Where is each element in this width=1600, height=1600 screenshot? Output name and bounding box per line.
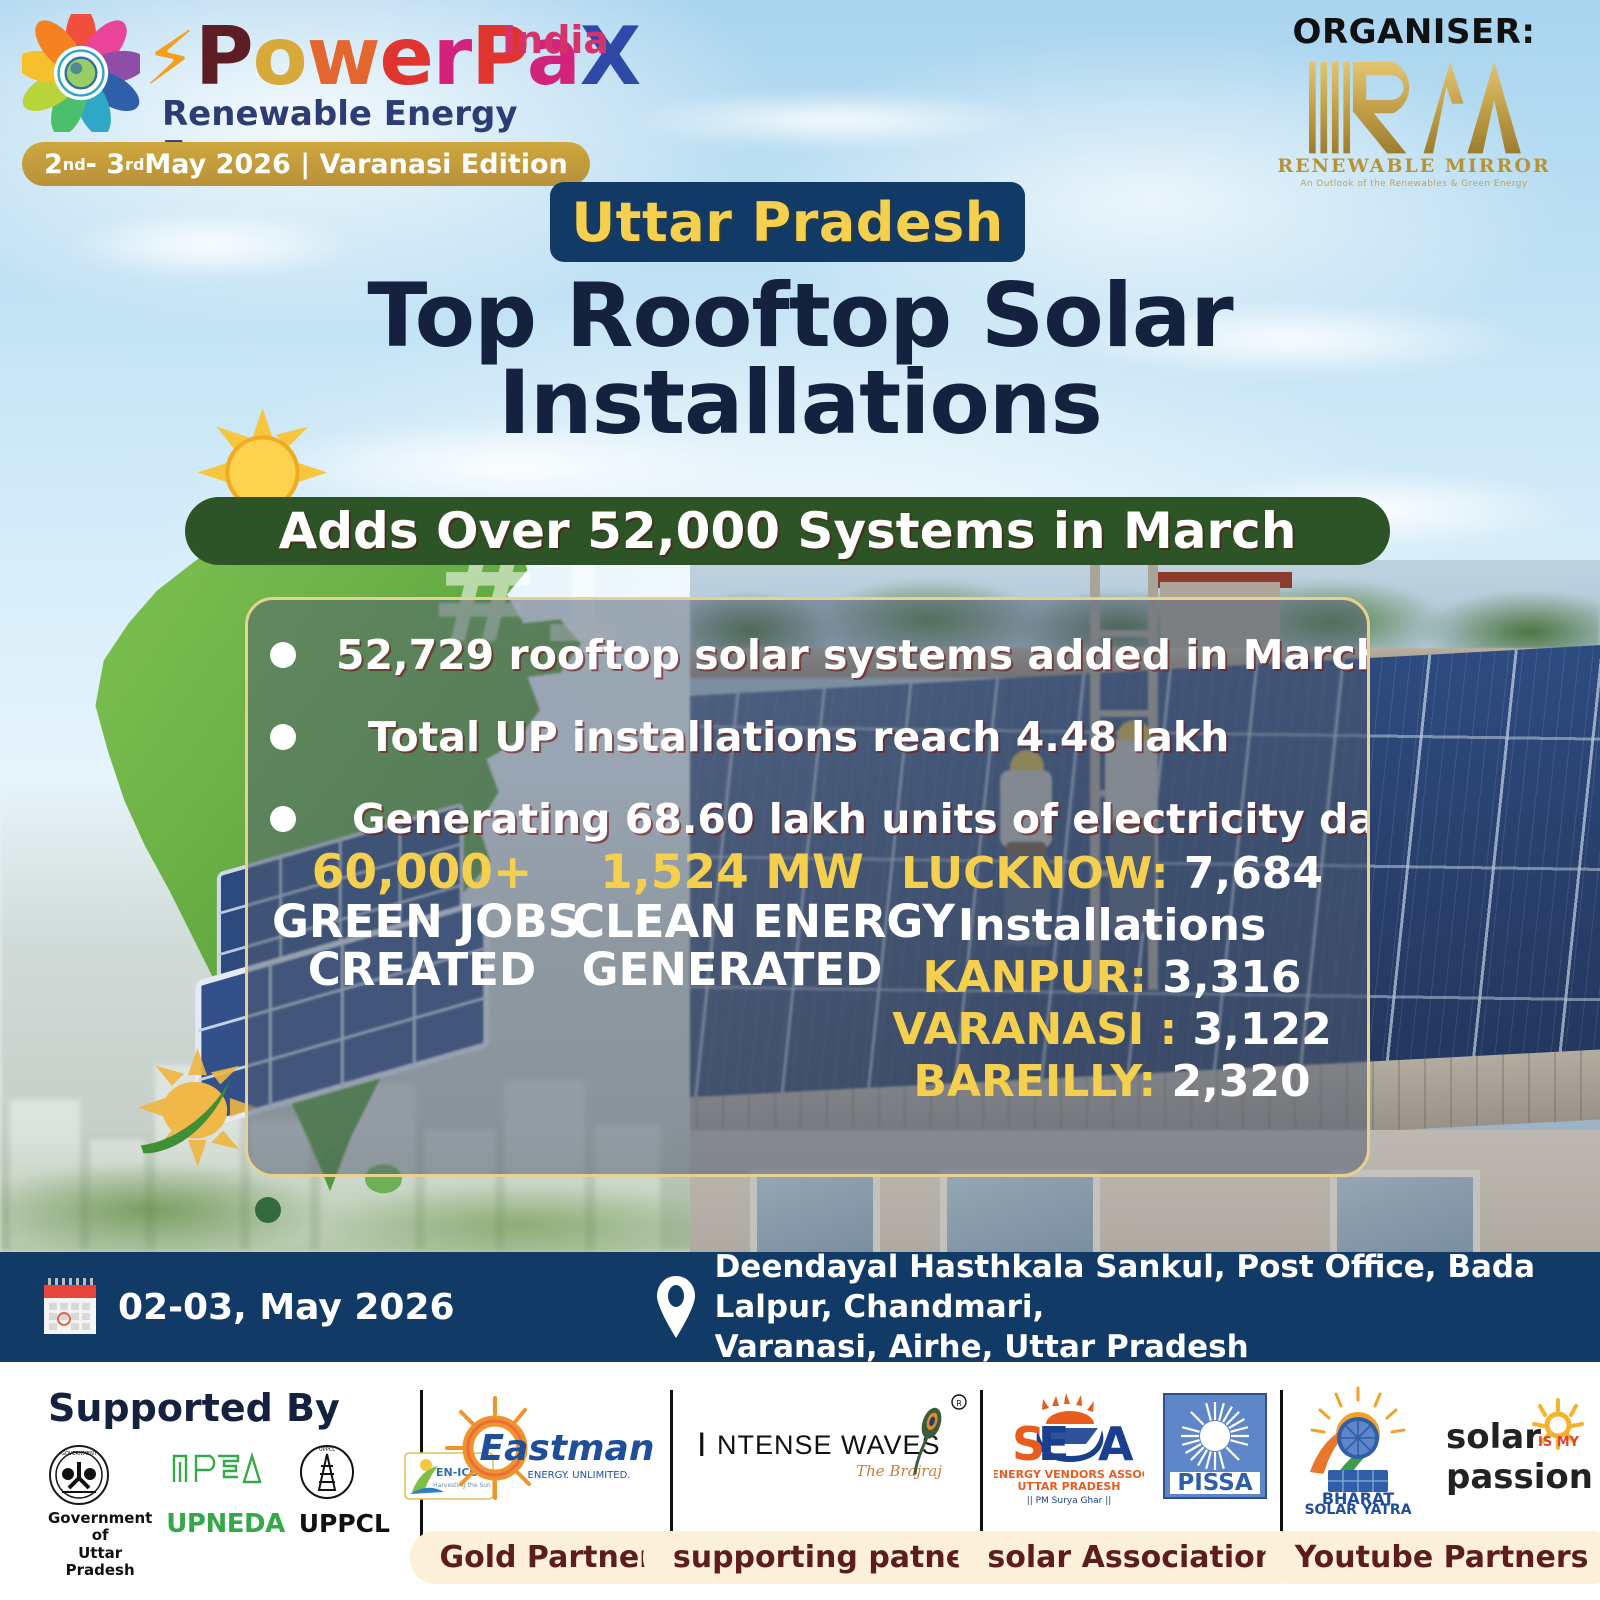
city-installations-list: LUCKNOW: 7,684 Installations KANPUR: 3,3…: [892, 848, 1332, 1108]
partner-group-youtube: BHARAT SOLAR YATRA solar: [1283, 1362, 1600, 1600]
list-item: LUCKNOW: 7,684: [892, 848, 1332, 900]
uppcl-logo-icon: UPPCL: [299, 1444, 355, 1506]
supported-by-group: Supported By GOVERNMENT: [0, 1362, 420, 1579]
bullet-dot-icon: [270, 806, 296, 832]
pissa-logo-icon[interactable]: PISSA: [1160, 1390, 1270, 1508]
partner-group-association: S E A SOLAR ENERGY VENDORS ASSOCIATION U…: [983, 1362, 1280, 1600]
organiser-tagline: An Outlook of the Renewables & Green Ene…: [1264, 179, 1564, 189]
stat-label-line-1: GREEN JOBS: [272, 898, 572, 946]
city-name: VARANASI :: [892, 1004, 1177, 1055]
bullet-dot-icon: [270, 642, 296, 668]
svg-text:UPPCL: UPPCL: [319, 1447, 335, 1453]
supported-logo-gov-up[interactable]: GOVERNMENT Government of Uttar Pradesh: [48, 1444, 152, 1579]
date-sup-2: rd: [125, 155, 144, 174]
bolt-icon: ⚡: [144, 16, 195, 102]
list-item: BAREILLY: 2,320: [892, 1056, 1332, 1108]
list-item: 52,729 rooftop solar systems added in Ma…: [270, 614, 1350, 696]
stat-number: 60,000+: [272, 848, 572, 898]
bullet-dot-icon: [270, 724, 296, 750]
svg-text:IS MY: IS MY: [1538, 1435, 1580, 1450]
svg-text:ENERGY. UNLIMITED.: ENERGY. UNLIMITED.: [528, 1470, 631, 1481]
svg-text:PISSA: PISSA: [1177, 1470, 1253, 1496]
map-pin-icon: [655, 1274, 697, 1340]
date-mid: - 3: [86, 149, 125, 180]
poster-root: ⚡PowerPaX India Renewable Energy Expo 2n…: [0, 0, 1600, 1600]
svg-text:R: R: [956, 1399, 962, 1408]
svg-text:solar: solar: [1446, 1417, 1541, 1457]
venue-date: 02-03, May 2026: [118, 1287, 455, 1328]
bullet-text: Total UP installations reach 4.48 lakh: [368, 713, 1229, 761]
calendar-icon: [42, 1278, 98, 1336]
upneda-logo-icon: [166, 1444, 262, 1506]
uttar-pradesh-government-seal-icon: GOVERNMENT: [48, 1444, 110, 1506]
supported-logo-uppcl[interactable]: UPPCL UPPCL: [299, 1444, 390, 1539]
green-accent-dot: [255, 1197, 281, 1223]
svg-text:The Brajraj: The Brajraj: [856, 1462, 942, 1480]
eastman-wordmark: Eastman: [480, 1428, 654, 1469]
eastman-logo-icon[interactable]: Eastman ENERGY. UNLIMITED.: [439, 1392, 654, 1510]
bullet-text: 52,729 rooftop solar systems added in Ma…: [336, 631, 1370, 679]
list-item: VARANASI : 3,122: [892, 1004, 1332, 1056]
svg-text:I: I: [697, 1426, 706, 1464]
city-value: 3,316: [1162, 952, 1301, 1003]
seva-logo-icon[interactable]: S E A SOLAR ENERGY VENDORS ASSOCIATION U…: [994, 1384, 1144, 1514]
bharat-solar-yatra-logo-icon[interactable]: BHARAT SOLAR YATRA: [1292, 1382, 1424, 1514]
stat-label-line-2: GENERATED: [572, 946, 892, 994]
svg-text:GOVERNMENT: GOVERNMENT: [61, 1451, 98, 1457]
city-value: 3,122: [1193, 1004, 1332, 1055]
svg-text:UTTAR PRADESH: UTTAR PRADESH: [1017, 1480, 1120, 1493]
city-name: LUCKNOW:: [901, 848, 1169, 899]
venue-address: Deendayal Hasthkala Sankul, Post Office,…: [715, 1247, 1600, 1368]
uppcl-wordmark: UPPCL: [299, 1510, 390, 1539]
date-suffix: May 2026 | Varanasi Edition: [144, 149, 567, 180]
powerpax-india-suffix: India: [502, 18, 609, 62]
stats-row: 60,000+ GREEN JOBS CREATED 1,524 MW CLEA…: [272, 848, 1352, 1108]
city-value: 7,684: [1184, 848, 1323, 899]
headline-line-2: Installations: [180, 359, 1420, 446]
partner-group-gold: Eastman ENERGY. UNLIMITED. Gold Partner: [423, 1362, 670, 1600]
cloud-wisp: [60, 210, 360, 280]
bullet-list: 52,729 rooftop solar systems added in Ma…: [270, 614, 1350, 860]
city-name: BAREILLY:: [913, 1056, 1156, 1107]
partner-badge-youtube: Youtube Partners: [1265, 1531, 1600, 1584]
bullet-text: Generating 68.60 lakh units of electrici…: [352, 795, 1370, 843]
svg-text:NTENSE WAVES: NTENSE WAVES: [717, 1430, 941, 1460]
stats-card: 52,729 rooftop solar systems added in Ma…: [245, 597, 1370, 1177]
colorful-petal-flower-icon: [22, 14, 140, 132]
cloud-wisp: [620, 90, 1040, 150]
svg-text:SOLAR YATRA: SOLAR YATRA: [1304, 1502, 1411, 1514]
svg-text:passion: passion: [1446, 1457, 1592, 1497]
partner-badge-supporting: supporting patner: [643, 1531, 1011, 1584]
supported-by-title: Supported By: [48, 1386, 420, 1430]
solar-is-my-passion-logo-icon[interactable]: solar IS MY passion: [1440, 1396, 1592, 1500]
venue-bar: 02-03, May 2026 Deendayal Hasthkala Sank…: [0, 1252, 1600, 1362]
date-sup-1: nd: [63, 155, 86, 174]
stat-label-line-1: CLEAN ENERGY: [572, 898, 892, 946]
headline-line-1: Top Rooftop Solar: [180, 272, 1420, 359]
powerpax-logo[interactable]: ⚡PowerPaX India Renewable Energy Expo: [22, 6, 602, 156]
stat-green-jobs: 60,000+ GREEN JOBS CREATED: [272, 848, 572, 1108]
svg-text:A: A: [1098, 1417, 1134, 1471]
stat-clean-energy: 1,524 MW CLEAN ENERGY GENERATED: [572, 848, 892, 1108]
intense-waves-logo-icon[interactable]: I NTENSE WAVES The Brajraj R: [687, 1392, 967, 1510]
organiser-label: ORGANISER:: [1264, 12, 1564, 52]
upneda-wordmark: UPNEDA: [166, 1510, 284, 1540]
green-banner-label: Adds Over 52,000 Systems in March: [279, 502, 1297, 560]
partner-badge-association: solar Association: [957, 1531, 1306, 1584]
gov-up-caption-line-1: Government of: [48, 1510, 152, 1545]
cities-subtitle: Installations: [892, 900, 1332, 952]
svg-text:|| PM Surya Ghar ||: || PM Surya Ghar ||: [1026, 1496, 1111, 1506]
event-date-pill: 2nd- 3rd May 2026 | Varanasi Edition: [22, 142, 590, 186]
svg-text:E: E: [1038, 1417, 1069, 1471]
venue-address-line-1: Deendayal Hasthkala Sankul, Post Office,…: [715, 1247, 1600, 1328]
state-badge-label: Uttar Pradesh: [571, 191, 1003, 254]
stat-label-line-2: CREATED: [272, 946, 572, 994]
partner-group-supporting: I NTENSE WAVES The Brajraj R supporting …: [673, 1362, 980, 1600]
state-badge: Uttar Pradesh: [550, 182, 1025, 262]
list-item: Total UP installations reach 4.48 lakh: [270, 696, 1350, 778]
date-prefix: 2: [44, 149, 63, 180]
rm-monogram-icon: [1299, 56, 1529, 161]
city-name: KANPUR:: [923, 952, 1147, 1003]
city-value: 2,320: [1171, 1056, 1310, 1107]
gov-up-caption-line-2: Uttar Pradesh: [48, 1545, 152, 1580]
supported-logo-upneda[interactable]: UPNEDA: [166, 1444, 284, 1540]
stat-number: 1,524 MW: [572, 848, 892, 898]
list-item: KANPUR: 3,316: [892, 952, 1332, 1004]
green-subheadline-banner: Adds Over 52,000 Systems in March: [185, 497, 1390, 565]
partners-strip: Supported By GOVERNMENT: [0, 1362, 1600, 1600]
page-title: Top Rooftop Solar Installations: [180, 272, 1420, 446]
organiser-block: ORGANISER: RENEWABLE MIRROR An Outlook o…: [1264, 12, 1564, 189]
